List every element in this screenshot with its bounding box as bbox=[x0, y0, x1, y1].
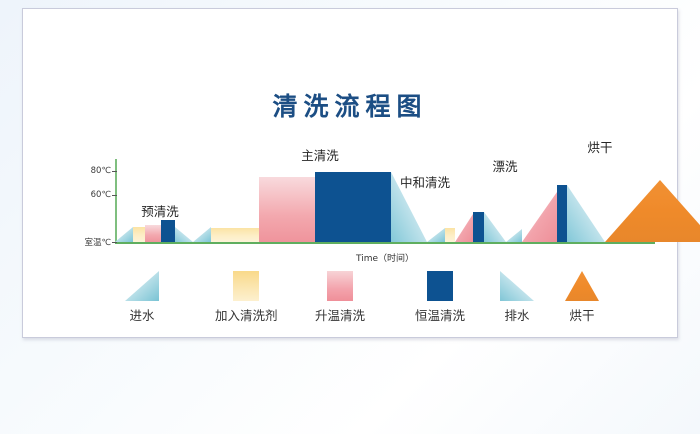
legend-label: 排水 bbox=[500, 305, 534, 324]
process-step-排水 bbox=[567, 185, 605, 242]
legend-label: 烘干 bbox=[565, 305, 599, 324]
legend-item-升温清洗[interactable]: 升温清洗 bbox=[315, 271, 365, 324]
slide-root: 清洗流程图 80℃60℃室温℃ 预清洗主清洗中和清洗漂洗烘干 Time（时间） … bbox=[0, 0, 700, 434]
page-title: 清洗流程图 bbox=[23, 87, 677, 123]
legend-item-进水[interactable]: 进水 bbox=[125, 271, 159, 324]
legend-swatch-恒温清洗-icon bbox=[423, 271, 457, 301]
process-step-进水 bbox=[115, 227, 133, 242]
process-step-升温清洗 bbox=[145, 225, 161, 242]
x-axis bbox=[115, 242, 655, 244]
legend-shape bbox=[427, 271, 453, 301]
process-step-加入清洗剂 bbox=[211, 228, 259, 242]
slide-panel: 清洗流程图 80℃60℃室温℃ 预清洗主清洗中和清洗漂洗烘干 Time（时间） … bbox=[22, 8, 678, 338]
process-step-升温清洗 bbox=[259, 177, 315, 242]
legend-label: 恒温清洗 bbox=[415, 305, 465, 324]
stage-label-漂洗: 漂洗 bbox=[492, 156, 517, 175]
process-step-排水 bbox=[175, 227, 193, 242]
y-tick-1: 60℃ bbox=[91, 190, 111, 200]
process-step-恒温清洗 bbox=[161, 220, 175, 242]
stage-label-中和清洗: 中和清洗 bbox=[400, 172, 450, 191]
stage-label-烘干: 烘干 bbox=[587, 137, 612, 156]
x-axis-label: Time（时间） bbox=[115, 251, 655, 264]
process-chart: 80℃60℃室温℃ 预清洗主清洗中和清洗漂洗烘干 Time（时间） bbox=[115, 159, 655, 244]
legend-shape bbox=[500, 271, 534, 301]
legend-item-排水[interactable]: 排水 bbox=[500, 271, 534, 324]
legend-swatch-排水-icon bbox=[500, 271, 534, 301]
process-step-升温清洗 bbox=[455, 214, 473, 242]
process-step-加入清洗剂 bbox=[133, 227, 145, 242]
process-step-恒温清洗 bbox=[473, 212, 484, 242]
process-step-排水 bbox=[484, 212, 506, 242]
process-step-恒温清洗 bbox=[557, 185, 567, 242]
legend-swatch-进水-icon bbox=[125, 271, 159, 301]
legend-item-烘干[interactable]: 烘干 bbox=[565, 271, 599, 324]
legend-label: 加入清洗剂 bbox=[215, 305, 278, 324]
chart-legend: 进水加入清洗剂升温清洗恒温清洗排水烘干 bbox=[115, 271, 615, 333]
legend-item-加入清洗剂[interactable]: 加入清洗剂 bbox=[215, 271, 278, 324]
legend-item-恒温清洗[interactable]: 恒温清洗 bbox=[415, 271, 465, 324]
process-step-恒温清洗 bbox=[315, 172, 391, 242]
process-step-升温清洗 bbox=[522, 192, 557, 242]
process-step-进水 bbox=[427, 228, 445, 242]
legend-shape bbox=[233, 271, 259, 301]
legend-label: 升温清洗 bbox=[315, 305, 365, 324]
process-step-加入清洗剂 bbox=[445, 228, 455, 242]
process-step-进水 bbox=[193, 227, 211, 242]
legend-shape bbox=[565, 271, 599, 301]
y-tick-0: 80℃ bbox=[91, 166, 111, 176]
legend-shape bbox=[125, 271, 159, 301]
legend-shape bbox=[327, 271, 353, 301]
legend-label: 进水 bbox=[125, 305, 159, 324]
stage-label-预清洗: 预清洗 bbox=[141, 201, 179, 220]
legend-swatch-加入清洗剂-icon bbox=[229, 271, 263, 301]
legend-swatch-升温清洗-icon bbox=[323, 271, 357, 301]
process-step-进水 bbox=[506, 229, 522, 242]
stage-label-主清洗: 主清洗 bbox=[301, 145, 339, 164]
y-tick-2: 室温℃ bbox=[84, 236, 111, 248]
process-step-烘干 bbox=[605, 180, 700, 242]
legend-swatch-烘干-icon bbox=[565, 271, 599, 301]
